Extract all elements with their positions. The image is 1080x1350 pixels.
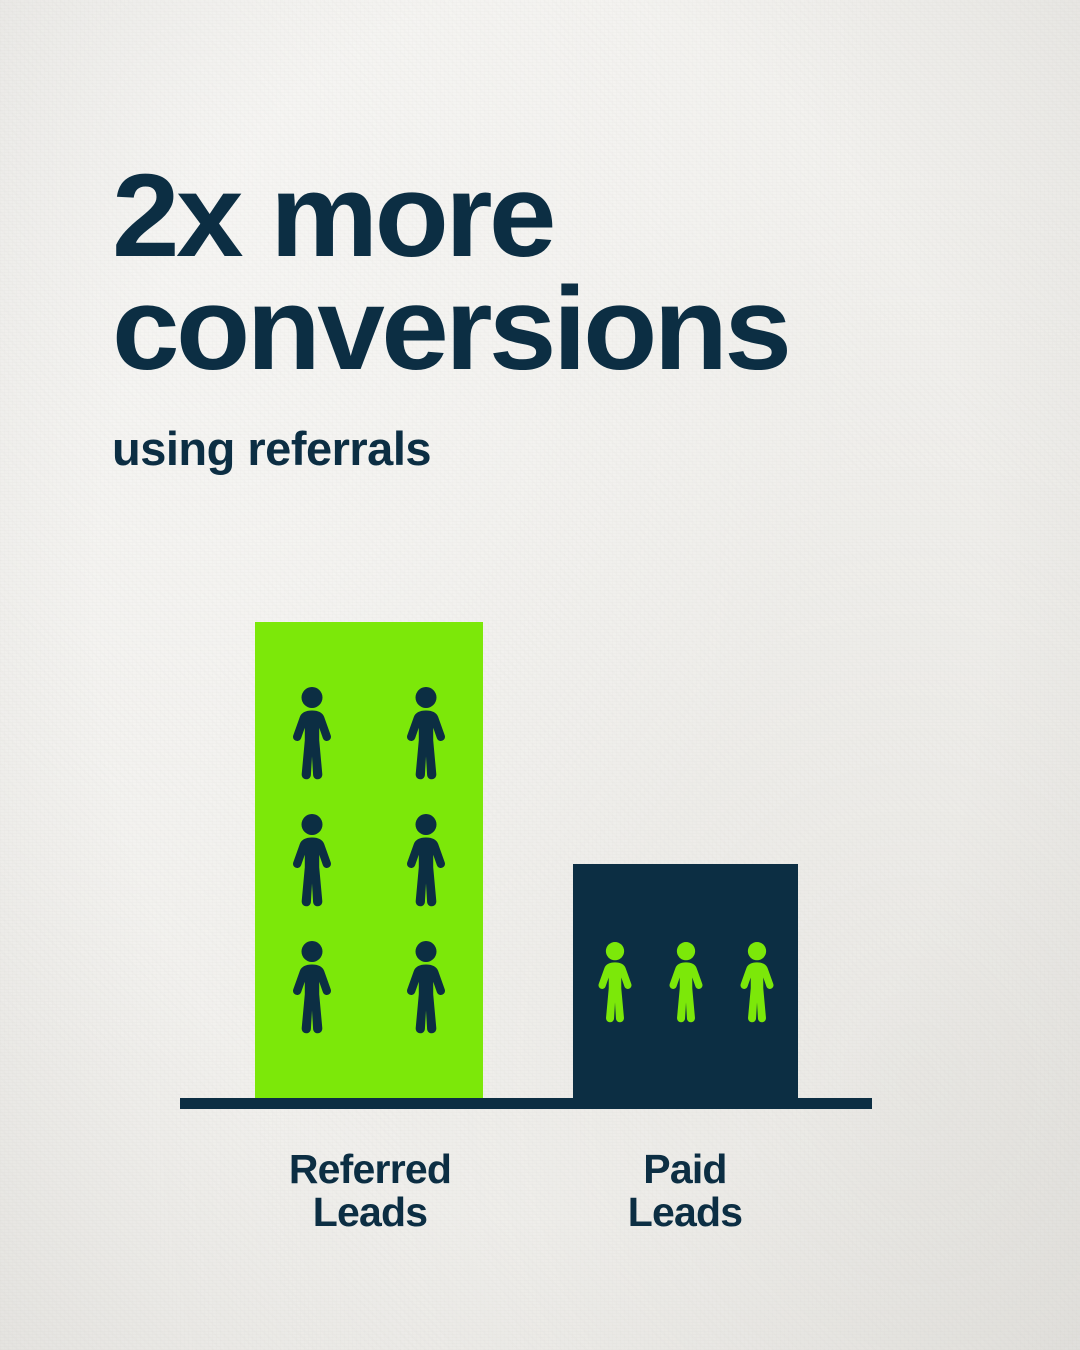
infographic-poster: 2x more conversions using referrals: [0, 0, 1080, 1350]
person-icon: [289, 940, 335, 1034]
person-icon: [595, 936, 635, 1028]
axis-label-referred-leads: Referred Leads: [215, 1148, 525, 1235]
person-icon: [403, 813, 449, 907]
person-icon: [403, 940, 449, 1034]
chart-baseline: [180, 1098, 872, 1109]
person-icon: [666, 936, 706, 1028]
pictogram-bar-chart: Referred Leads Paid Leads: [0, 0, 1080, 1350]
person-icon: [289, 686, 335, 780]
icon-group-paid-leads: [580, 930, 792, 1034]
person-icon: [737, 936, 777, 1028]
person-icon: [403, 686, 449, 780]
person-icon: [289, 813, 335, 907]
icon-group-referred-leads: [255, 670, 483, 1050]
axis-label-paid-leads: Paid Leads: [535, 1148, 835, 1235]
